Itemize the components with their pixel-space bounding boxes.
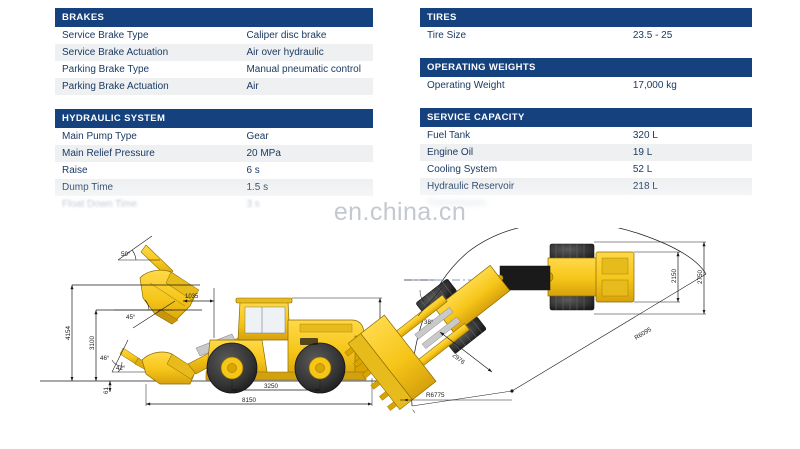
spec-label: Main Relief Pressure xyxy=(55,145,239,162)
dim-group-hinge-height: 3100 xyxy=(89,310,96,381)
spec-label: Raise xyxy=(55,162,239,179)
table-row: Float Down Time 3 s xyxy=(55,196,373,213)
table-row: Tire Size 23.5 - 25 xyxy=(420,27,752,44)
spec-table-tires: TIRES Tire Size 23.5 - 25 xyxy=(420,8,752,44)
spec-value: 20 MPa xyxy=(239,145,373,162)
spec-table-service-capacity: SERVICE CAPACITY Fuel Tank 320 L Engine … xyxy=(420,108,752,212)
spec-label: Fuel Tank xyxy=(420,127,626,144)
table-row: Main Relief Pressure 20 MPa xyxy=(55,145,373,162)
dim-outer-turning-radius-tire: R6095 xyxy=(633,326,653,342)
dim-articulation-angle: 38° xyxy=(424,319,434,326)
loader-plan-rear xyxy=(497,244,634,310)
spec-value xyxy=(626,195,752,212)
dim-rollback-angle: 46° xyxy=(100,355,110,362)
spec-label: Parking Brake Type xyxy=(55,61,239,78)
dim-group-max-height: 4154 xyxy=(65,285,72,381)
spec-value: Manual pneumatic control xyxy=(239,61,373,78)
spec-label: Parking Brake Actuation xyxy=(55,78,239,95)
table-row: Service Brake Type Caliper disc brake xyxy=(55,27,373,44)
dim-overall-length: 8150 xyxy=(242,397,257,404)
dim-wheelbase: 3250 xyxy=(264,383,279,390)
spec-value: 52 L xyxy=(626,161,752,178)
dim-overall-height-raised: 4154 xyxy=(65,325,72,340)
table-header-row: TIRES xyxy=(420,8,752,27)
spec-value: 17,000 kg xyxy=(626,77,752,94)
table-title-brakes: BRAKES xyxy=(55,8,373,27)
spec-label: Service Brake Actuation xyxy=(55,44,239,61)
table-row: Engine Oil 19 L xyxy=(420,144,752,161)
spec-label: Tire Size xyxy=(420,27,626,44)
dim-digging-angle: 42° xyxy=(116,365,126,372)
dim-reach-at-max-height: 1035 xyxy=(185,294,199,300)
table-row: Service Brake Actuation Air over hydraul… xyxy=(55,44,373,61)
spec-column-right: TIRES Tire Size 23.5 - 25 OPERATING WEIG… xyxy=(420,8,752,225)
spec-table-brakes: BRAKES Service Brake Type Caliper disc b… xyxy=(55,8,373,95)
dim-overall-width: 2750 xyxy=(697,269,704,284)
spec-value: 1.5 s xyxy=(239,179,373,196)
dim-dump-angle: 59° xyxy=(121,251,131,258)
table-title-tires: TIRES xyxy=(420,8,752,27)
table-row: Fuel Tank 320 L xyxy=(420,127,752,144)
table-title-operating-weights: OPERATING WEIGHTS xyxy=(420,58,752,77)
spec-label: Hydraulic Reservoir xyxy=(420,178,626,195)
section-divider xyxy=(0,226,800,227)
spec-value: 3 s xyxy=(239,196,373,213)
dimension-drawings-section: 59° 1035 xyxy=(0,228,800,449)
dim-digging-depth: 61 xyxy=(103,387,110,394)
table-row: Raise 6 s xyxy=(55,162,373,179)
spec-value: 6 s xyxy=(239,162,373,179)
spec-value: 320 L xyxy=(626,127,752,144)
table-row: Cooling System 52 L xyxy=(420,161,752,178)
dim-group-tread-width: 2150 xyxy=(634,252,680,302)
spec-label: Float Down Time xyxy=(55,196,239,213)
dim-bucket-width: 2976 xyxy=(451,352,467,366)
table-row: Transmission xyxy=(420,195,752,212)
table-row: Hydraulic Reservoir 218 L xyxy=(420,178,752,195)
table-row: Operating Weight 17,000 kg xyxy=(420,77,752,94)
dim-tread-width: 2150 xyxy=(671,268,678,283)
drawings-svg: 59° 1035 xyxy=(0,228,800,449)
spec-label: Engine Oil xyxy=(420,144,626,161)
spec-value: Air over hydraulic xyxy=(239,44,373,61)
table-row: Main Pump Type Gear xyxy=(55,128,373,145)
table-header-row: HYDRAULIC SYSTEM xyxy=(55,109,373,128)
spec-label: Dump Time xyxy=(55,179,239,196)
table-header-row: SERVICE CAPACITY xyxy=(420,108,752,127)
dim-group-outer-radius-tire: R6095 xyxy=(633,326,653,342)
dim-group-digging-depth: 61 xyxy=(103,381,110,394)
top-view-diagram: 2976 38° 2150 xyxy=(337,228,706,449)
spec-table-hydraulic-system: HYDRAULIC SYSTEM Main Pump Type Gear Mai… xyxy=(55,109,373,213)
spec-value: Caliper disc brake xyxy=(239,27,373,44)
dim-group-reach: 1035 xyxy=(183,288,214,338)
dim-outer-turning-radius-bucket: R6775 xyxy=(426,392,445,399)
spec-value: Gear xyxy=(239,128,373,145)
side-view-diagram: 59° 1035 xyxy=(40,236,390,406)
spec-sheet-page: BRAKES Service Brake Type Caliper disc b… xyxy=(0,0,800,449)
table-header-row: OPERATING WEIGHTS xyxy=(420,58,752,77)
table-row: Dump Time 1.5 s xyxy=(55,179,373,196)
spec-table-operating-weights: OPERATING WEIGHTS Operating Weight 17,00… xyxy=(420,58,752,94)
table-row: Parking Brake Type Manual pneumatic cont… xyxy=(55,61,373,78)
spec-label: Transmission xyxy=(420,195,626,212)
spec-value: Air xyxy=(239,78,373,95)
specifications-section: BRAKES Service Brake Type Caliper disc b… xyxy=(0,0,800,225)
table-row: Parking Brake Actuation Air xyxy=(55,78,373,95)
table-title-hydraulic-system: HYDRAULIC SYSTEM xyxy=(55,109,373,128)
table-header-row: BRAKES xyxy=(55,8,373,27)
dim-hinge-pin-height: 3100 xyxy=(89,335,96,350)
table-title-service-capacity: SERVICE CAPACITY xyxy=(420,108,752,127)
spec-label: Service Brake Type xyxy=(55,27,239,44)
spec-label: Operating Weight xyxy=(420,77,626,94)
spec-label: Main Pump Type xyxy=(55,128,239,145)
spec-label: Cooling System xyxy=(420,161,626,178)
spec-value: 19 L xyxy=(626,144,752,161)
spec-value: 218 L xyxy=(626,178,752,195)
dim-carry-angle: 45° xyxy=(126,314,136,321)
spec-value: 23.5 - 25 xyxy=(626,27,752,44)
spec-column-left: BRAKES Service Brake Type Caliper disc b… xyxy=(55,8,373,225)
